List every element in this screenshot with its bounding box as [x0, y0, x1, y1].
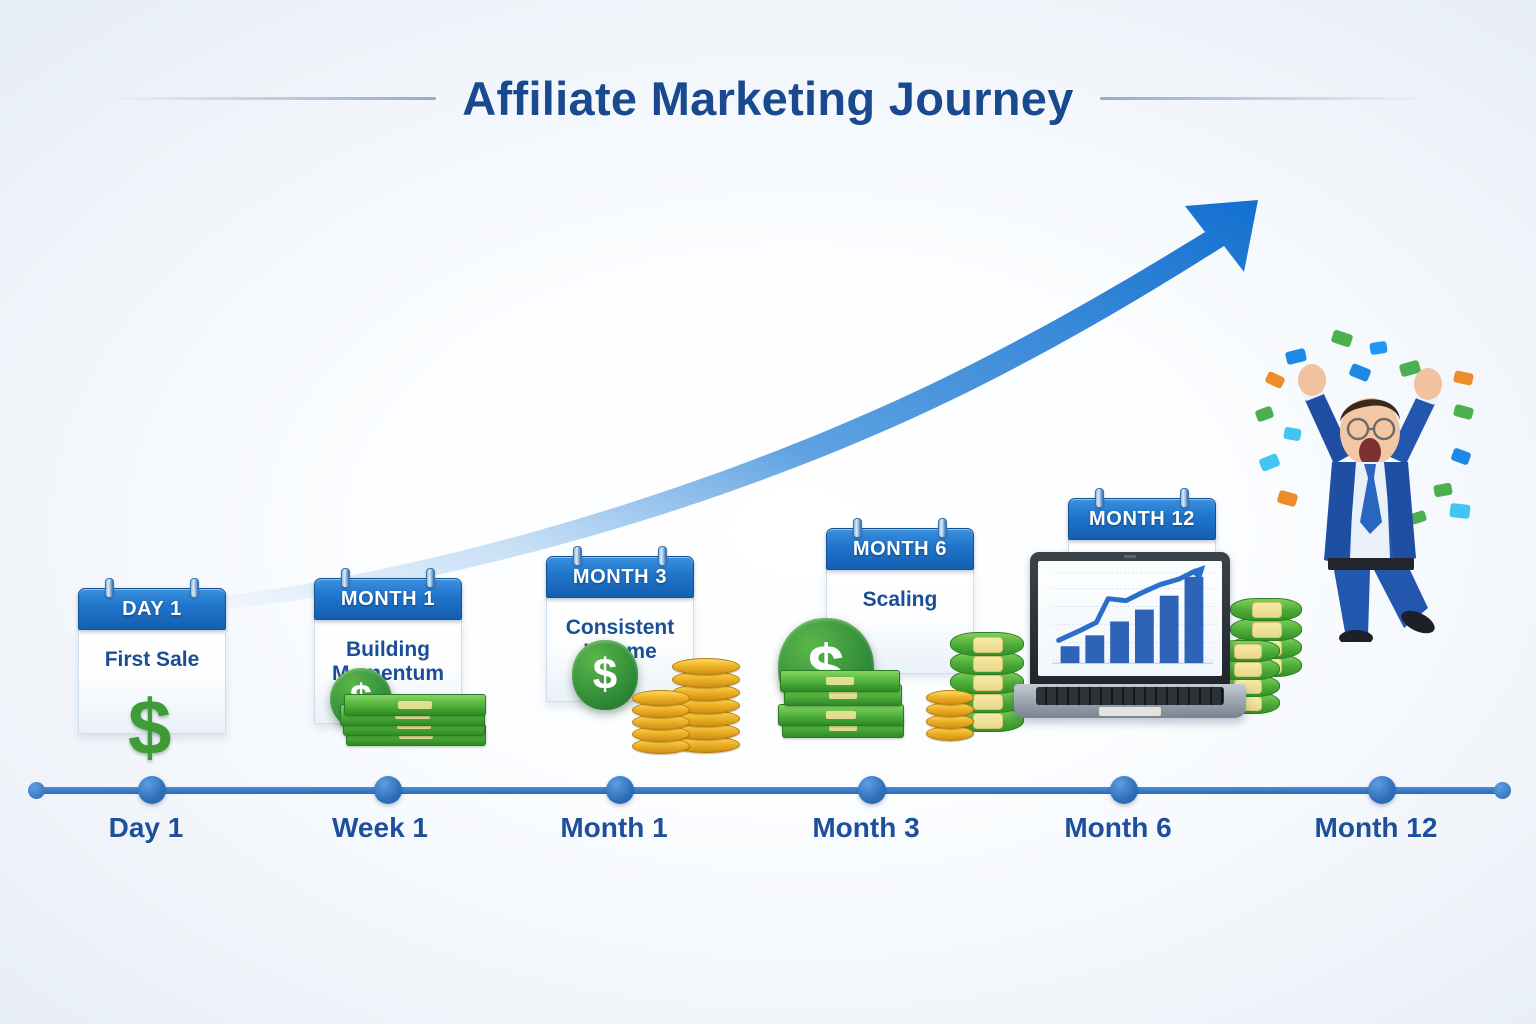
card-body-label-line1: Building — [323, 638, 453, 662]
page-title: Affiliate Marketing Journey — [462, 71, 1073, 126]
webcam-icon — [1124, 555, 1136, 558]
gold-coin-stack-short — [632, 690, 692, 754]
coin-dollar-glyph: $ — [593, 650, 617, 700]
timeline-dot-day-1[interactable] — [138, 776, 166, 804]
bill-stack — [778, 664, 908, 740]
timeline-label-day-1: Day 1 — [109, 812, 184, 844]
gold-coin-stack — [926, 688, 976, 740]
card-header: MONTH 12 — [1068, 498, 1216, 540]
binder-ring-icon — [426, 568, 435, 588]
card-header: MONTH 3 — [546, 556, 694, 598]
card-header: MONTH 6 — [826, 528, 974, 570]
binder-ring-icon — [1180, 488, 1189, 508]
binder-ring-icon — [573, 546, 582, 566]
timeline-axis — [33, 787, 1503, 794]
binder-ring-icon — [938, 518, 947, 538]
laptop-lid — [1030, 552, 1230, 686]
title-rule-left — [106, 97, 436, 100]
timeline-label-month-1: Month 1 — [560, 812, 667, 844]
binder-ring-icon — [853, 518, 862, 538]
card-header-label: MONTH 3 — [573, 566, 667, 589]
binder-ring-icon — [1095, 488, 1104, 508]
timeline-endcap-right — [1494, 782, 1511, 799]
timeline-label-month-3: Month 3 — [812, 812, 919, 844]
binder-ring-icon — [190, 578, 199, 598]
keyboard-icon — [1036, 687, 1224, 705]
timeline-label-month-6: Month 6 — [1064, 812, 1171, 844]
celebrating-businessman-icon — [1264, 336, 1480, 642]
card-body-label-line1: Consistent — [555, 616, 685, 640]
timeline: Day 1 Week 1 Month 1 Month 3 Month 6 Mon… — [0, 760, 1536, 880]
card-header-label: MONTH 12 — [1089, 508, 1195, 531]
timeline-dot-month-3[interactable] — [858, 776, 886, 804]
dollar-sign-icon: $ — [128, 688, 171, 766]
cash-stack-icon: $ — [330, 668, 500, 754]
bill-stack — [340, 694, 490, 748]
timeline-endcap-left — [28, 782, 45, 799]
binder-ring-icon — [658, 546, 667, 566]
timeline-dot-month-1[interactable] — [606, 776, 634, 804]
timeline-label-month-12: Month 12 — [1315, 812, 1438, 844]
laptop-icon — [1014, 552, 1246, 748]
timeline-dot-week-1[interactable] — [374, 776, 402, 804]
dollar-glyph: $ — [128, 688, 171, 766]
timeline-label-week-1: Week 1 — [332, 812, 428, 844]
trackpad-icon — [1099, 707, 1161, 716]
card-header: DAY 1 — [78, 588, 226, 630]
card-header-label: DAY 1 — [122, 598, 182, 621]
timeline-dot-month-12[interactable] — [1368, 776, 1396, 804]
laptop-base — [1014, 684, 1246, 718]
coins-and-dollar-icon: $ — [572, 640, 762, 758]
timeline-dot-month-6[interactable] — [1110, 776, 1138, 804]
money-pile-icon: $ — [778, 618, 1028, 758]
card-body-label: First Sale — [87, 648, 217, 672]
binder-ring-icon — [105, 578, 114, 598]
card-header-label: MONTH 6 — [853, 538, 947, 561]
card-body-label: Scaling — [835, 588, 965, 612]
card-header-label: MONTH 1 — [341, 588, 435, 611]
title-rule-right — [1100, 97, 1430, 100]
title-area: Affiliate Marketing Journey — [0, 58, 1536, 138]
laptop-screen-chart — [1038, 561, 1222, 676]
card-header: MONTH 1 — [314, 578, 462, 620]
binder-ring-icon — [341, 568, 350, 588]
green-dollar-coin-icon: $ — [572, 640, 638, 710]
